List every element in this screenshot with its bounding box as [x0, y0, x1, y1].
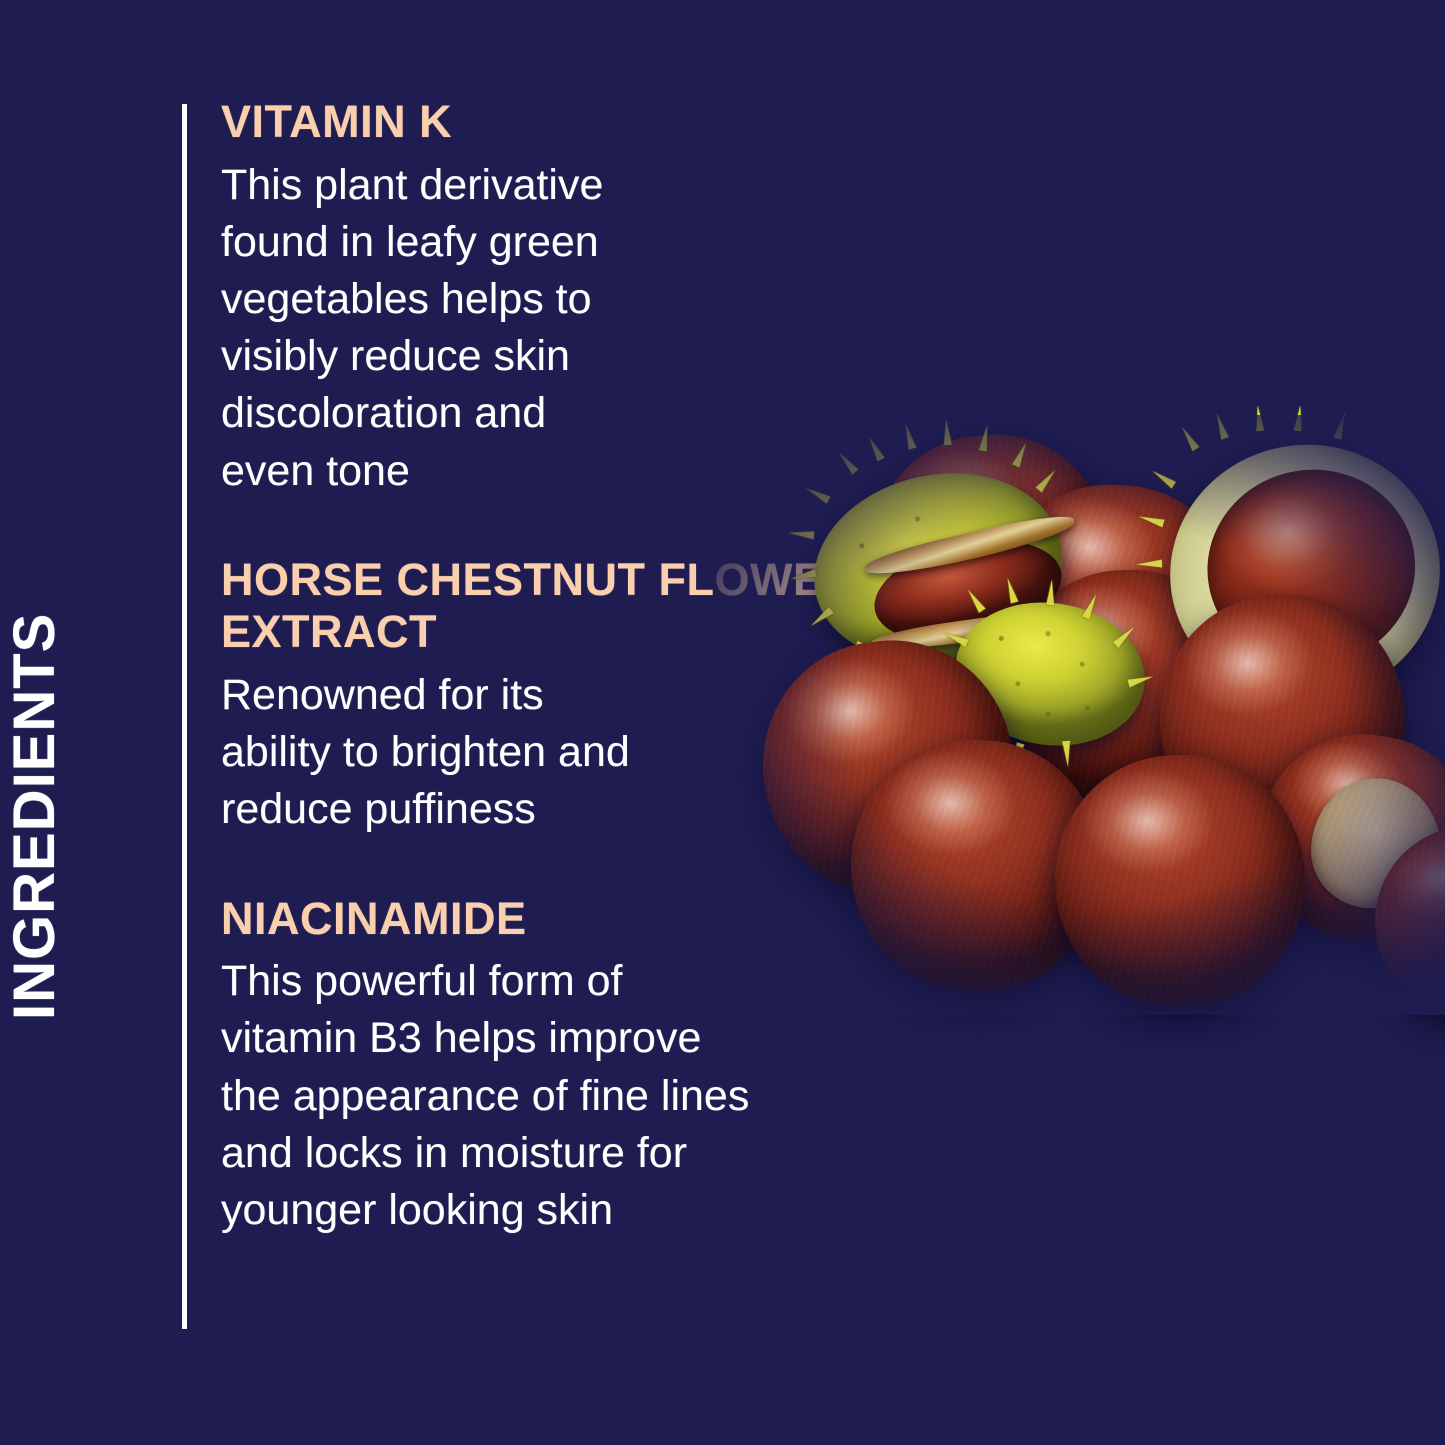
horse-chestnut-photo: [755, 455, 1445, 975]
ingredient-heading-vitamin-k: VITAMIN K: [221, 96, 901, 149]
heading-line: HORSE CHESTNUT: [221, 554, 646, 605]
ingredient-body-niacinamide: This powerful form of vitamin B3 helps i…: [221, 953, 901, 1239]
ingredient-body-vitamin-k: This plant derivative found in leafy gre…: [221, 157, 901, 500]
body-line: younger looking skin: [221, 1182, 901, 1239]
body-line: vitamin B3 helps improve: [221, 1010, 901, 1067]
husk-spine: [1254, 405, 1265, 432]
husk-spine: [1062, 741, 1072, 767]
husk-spine: [1136, 560, 1162, 569]
husk-spine: [804, 484, 831, 503]
husk-spine: [1334, 412, 1349, 439]
husk-spine: [1179, 425, 1200, 451]
husk-spine: [788, 529, 815, 540]
body-line: and locks in moisture for: [221, 1125, 901, 1182]
husk-spine: [942, 419, 952, 445]
body-line: discoloration and: [221, 385, 901, 442]
husk-spine: [789, 569, 816, 583]
body-line: visibly reduce skin: [221, 328, 901, 385]
body-line: vegetables helps to: [221, 271, 901, 328]
body-line: found in leafy green: [221, 214, 901, 271]
husk-spine: [1294, 405, 1305, 432]
body-line: This plant derivative: [221, 157, 901, 214]
husk-spine: [902, 422, 917, 449]
ingredients-vertical-label: INGREDIENTS: [0, 480, 70, 1020]
husk-spine: [1213, 412, 1229, 439]
husk-spine: [1150, 467, 1176, 488]
vertical-divider: [182, 104, 187, 1329]
ingredient-section-vitamin-k: VITAMIN K This plant derivative found in…: [221, 96, 901, 500]
body-line: the appearance of fine lines: [221, 1068, 901, 1125]
ingredients-panel: INGREDIENTS VITAMIN K This plant derivat…: [0, 0, 1445, 1445]
